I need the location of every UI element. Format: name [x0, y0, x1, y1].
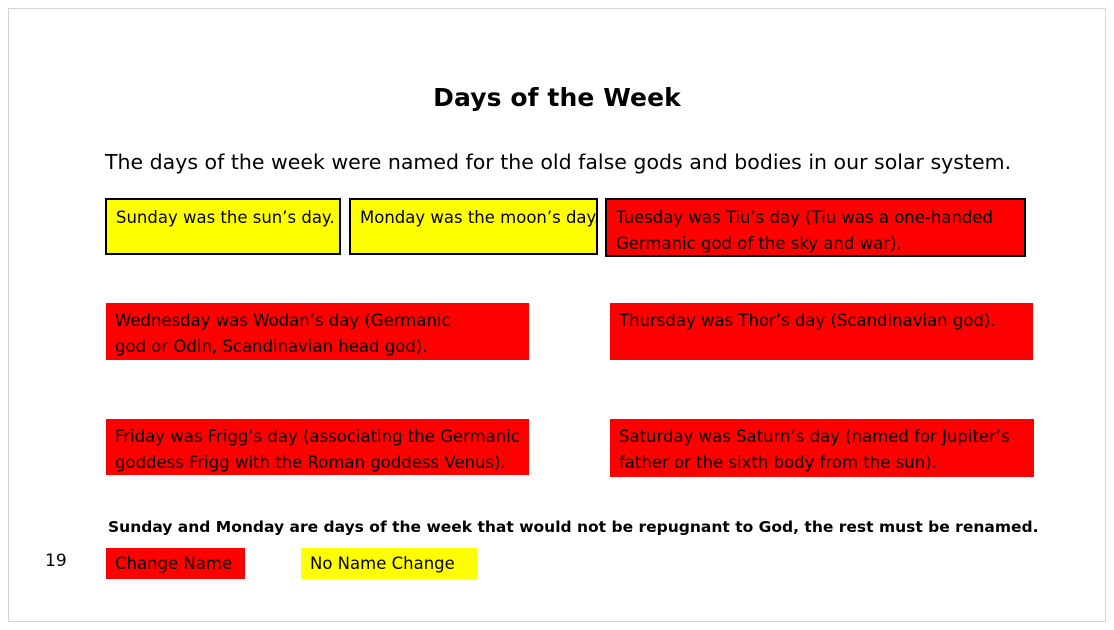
day-box-wednesday-line-2: god or Odin, Scandinavian head god).: [115, 334, 529, 360]
slide-number: 19: [45, 551, 67, 571]
day-box-wednesday[interactable]: Wednesday was Wodan’s day (Germanic god …: [106, 303, 529, 360]
day-box-thursday[interactable]: Thursday was Thor’s day (Scandinavian go…: [610, 303, 1033, 360]
day-box-tuesday[interactable]: Tuesday was Tiu’s day (Tiu was a one-han…: [605, 198, 1026, 257]
day-box-friday-line-2: goddess Frigg with the Roman goddess Ven…: [115, 450, 529, 475]
slide-frame: Days of the Week The days of the week we…: [8, 8, 1106, 622]
day-box-wednesday-line-1: Wednesday was Wodan’s day (Germanic: [115, 308, 529, 334]
slide-subtitle: The days of the week were named for the …: [105, 150, 1045, 174]
day-box-saturday-line-2: father or the sixth body from the sun).: [619, 450, 1034, 476]
conclusion-text: Sunday and Monday are days of the week t…: [108, 518, 1048, 536]
day-box-thursday-line-1: Thursday was Thor’s day (Scandinavian go…: [619, 308, 1033, 334]
day-box-sunday[interactable]: Sunday was the sun’s day.: [105, 198, 341, 255]
day-box-friday[interactable]: Friday was Frigg’s day (associating the …: [106, 419, 529, 475]
slide-canvas: Days of the Week The days of the week we…: [9, 9, 1105, 621]
day-box-saturday-line-1: Saturday was Saturn’s day (named for Jup…: [619, 424, 1034, 450]
day-box-monday-line-1: Monday was the moon’s day.: [360, 205, 596, 231]
day-box-tuesday-line-2: Germanic god of the sky and war).: [616, 231, 1024, 257]
day-box-saturday[interactable]: Saturday was Saturn’s day (named for Jup…: [610, 419, 1034, 477]
page-title: Days of the Week: [9, 83, 1105, 112]
legend-change-name[interactable]: Change Name: [106, 548, 245, 579]
day-box-friday-line-1: Friday was Frigg’s day (associating the …: [115, 424, 529, 450]
day-box-tuesday-line-1: Tuesday was Tiu’s day (Tiu was a one-han…: [616, 205, 1024, 231]
legend-no-name-change[interactable]: No Name Change: [301, 548, 477, 579]
day-box-sunday-line-1: Sunday was the sun’s day.: [116, 205, 339, 231]
day-box-monday[interactable]: Monday was the moon’s day.: [349, 198, 598, 255]
